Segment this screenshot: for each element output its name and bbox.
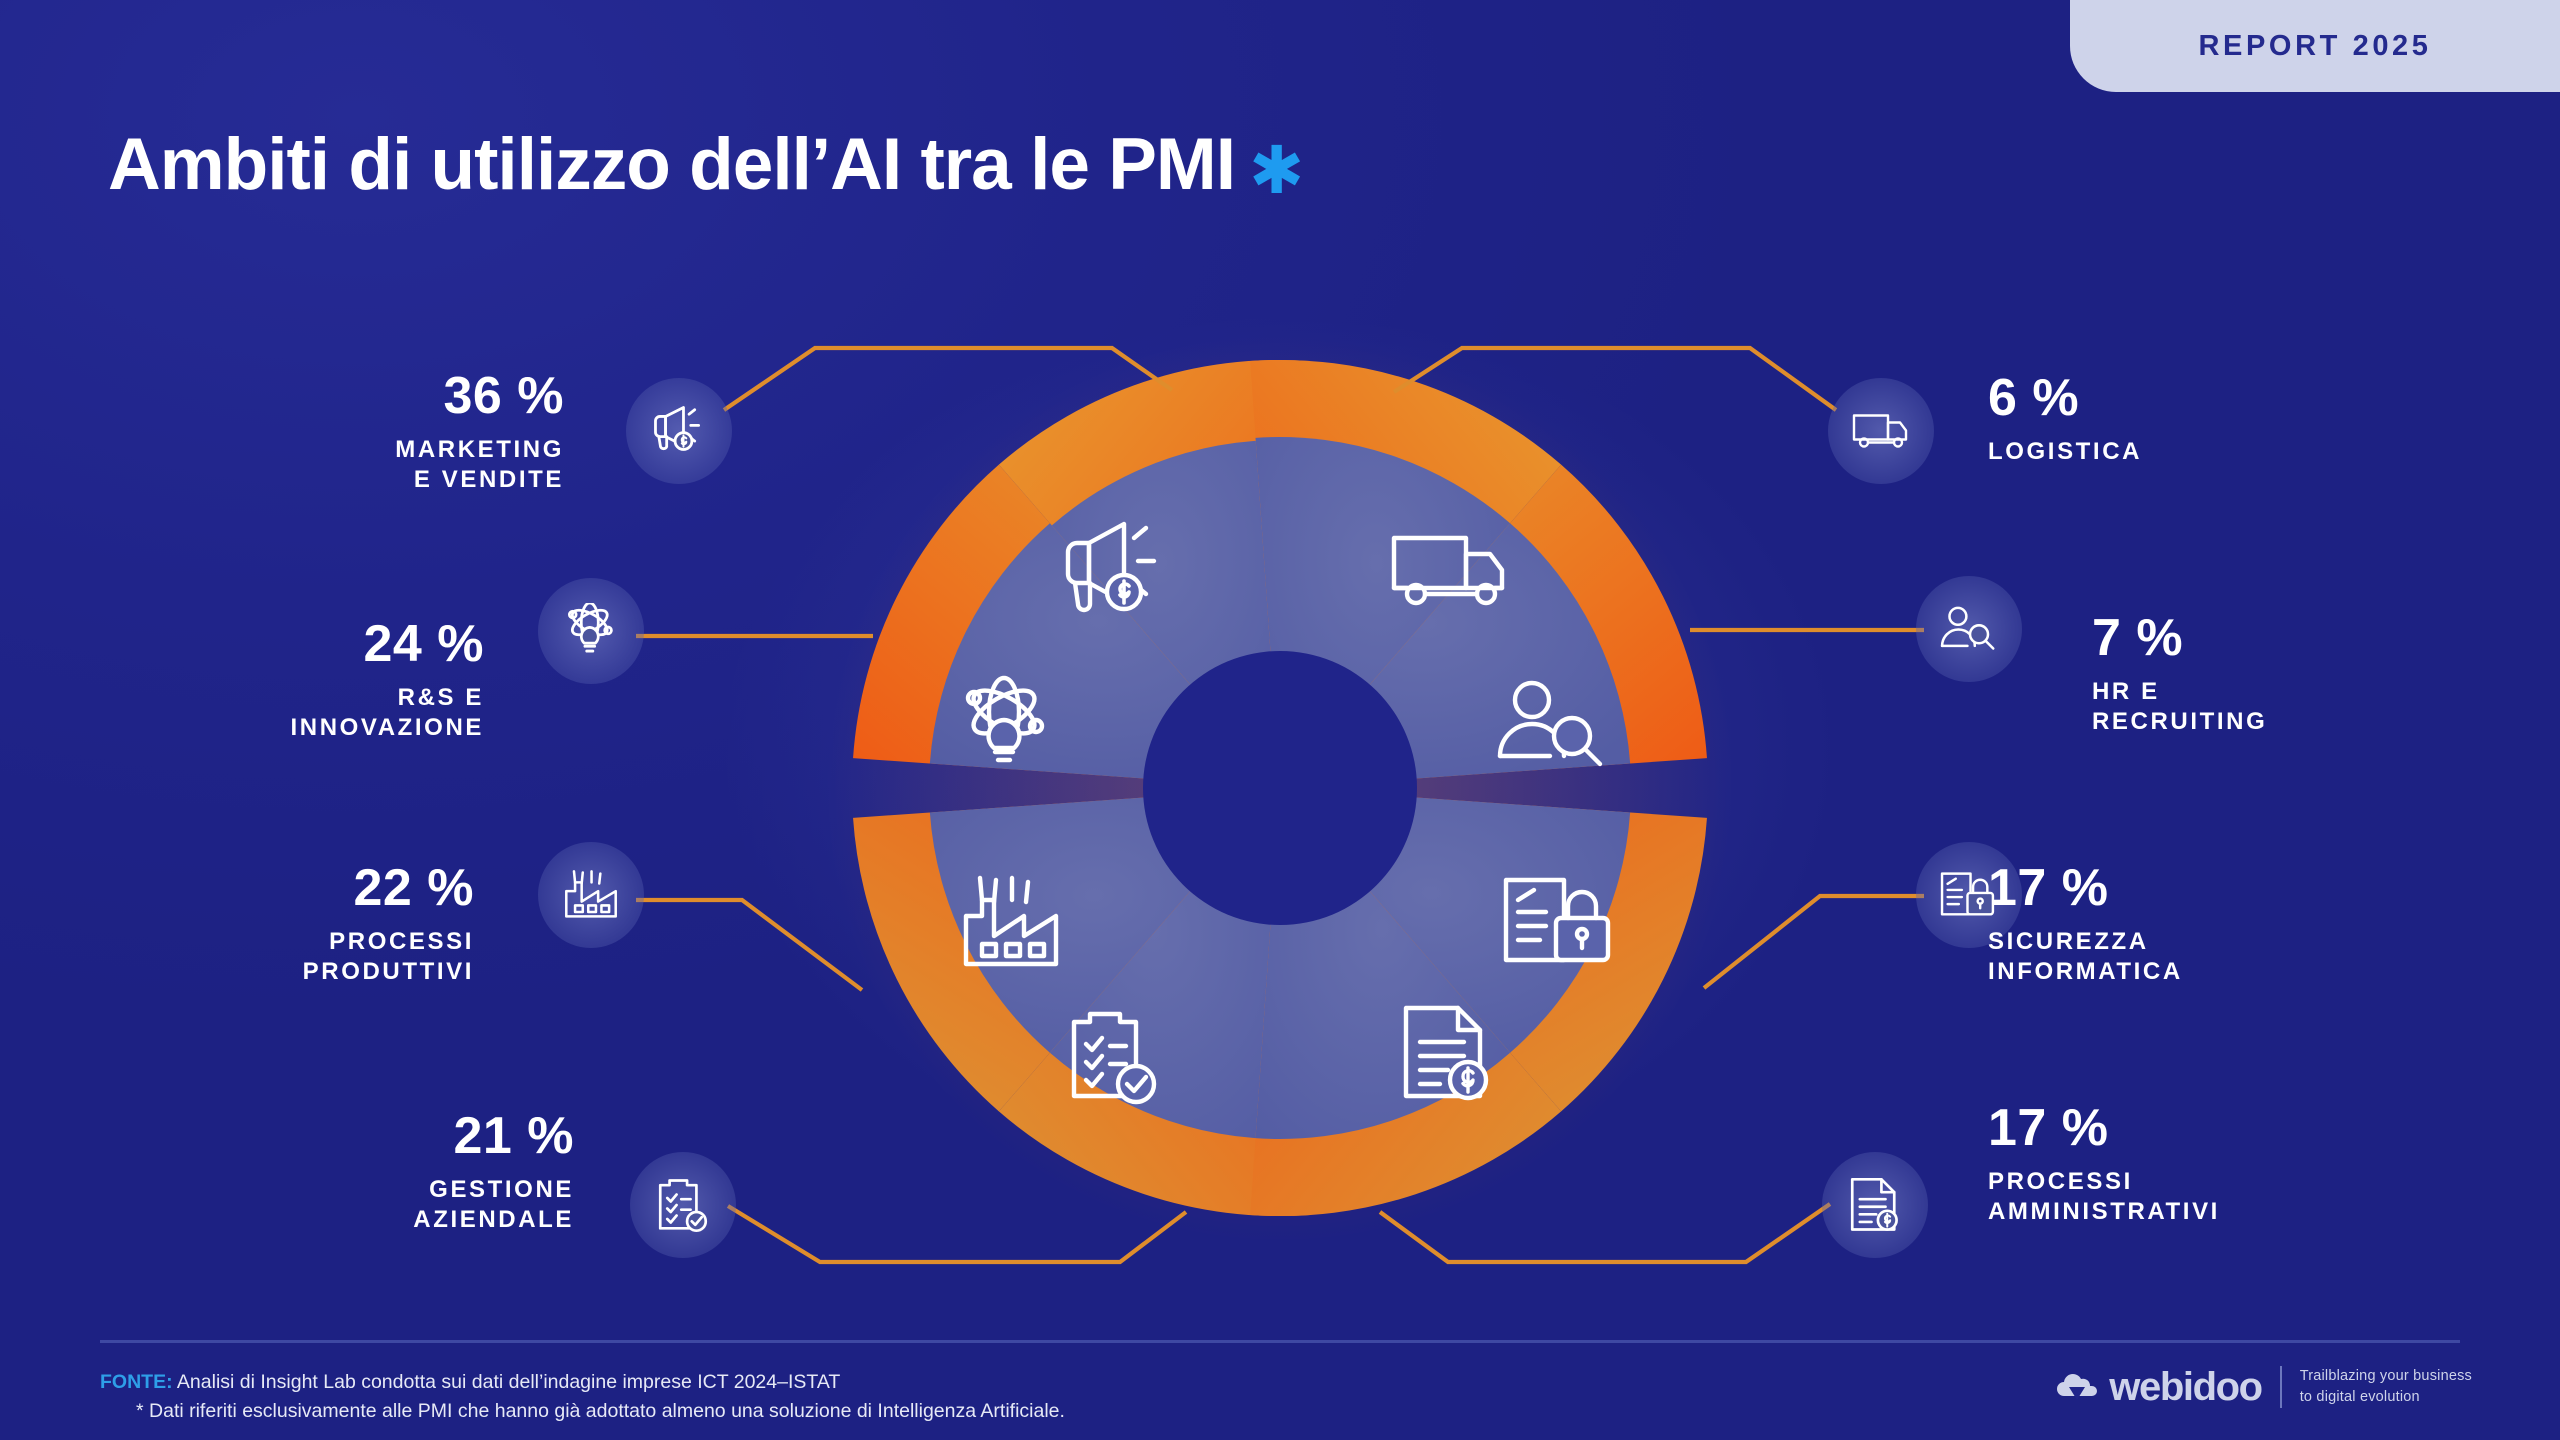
stat-label-line1: HR E: [2092, 678, 2160, 705]
stat-label: SICUREZZA INFORMATICA: [1988, 927, 2448, 987]
stat-label-line1: PROCESSI: [329, 928, 474, 955]
donut-wheel: [810, 318, 1750, 1258]
webidoo-logo: webidoo Trailblazing your business to di…: [2054, 1366, 2472, 1408]
logo-text: webidoo: [2109, 1367, 2261, 1407]
stat-label: HR E RECRUITING: [2092, 677, 2512, 737]
stat-label-line1: SICUREZZA: [1988, 928, 2149, 955]
logo-tagline: Trailblazing your business to digital ev…: [2300, 1366, 2472, 1407]
user-search-icon: [1940, 603, 1998, 655]
logo-mark: webidoo: [2054, 1367, 2261, 1407]
footer-divider: [100, 1340, 2460, 1343]
stat-label-line2: INFORMATICA: [1988, 958, 2183, 985]
page-title: Ambiti di utilizzo dell’AI tra le PMI✱: [108, 128, 1303, 203]
icon-node-logistica[interactable]: [1828, 378, 1934, 484]
fonte-text: Analisi di Insight Lab condotta sui dati…: [177, 1371, 840, 1393]
stat-label-line2: AZIENDALE: [413, 1206, 574, 1233]
wheel-center-hole: [1143, 651, 1417, 925]
icon-node-gestione[interactable]: [630, 1152, 736, 1258]
factory-icon: [563, 868, 619, 922]
icon-node-rs[interactable]: [538, 578, 644, 684]
stat-label: MARKETING E VENDITE: [214, 435, 564, 495]
logo-divider: [2280, 1366, 2282, 1408]
stat-label: PROCESSI PRODUTTIVI: [124, 927, 474, 987]
stat-value: 36 %: [214, 370, 564, 422]
stat-value: 24 %: [134, 618, 484, 670]
asterisk-icon: ✱: [1249, 133, 1303, 207]
clipboard-check-icon: [656, 1177, 710, 1233]
truck-icon: [1852, 407, 1910, 455]
stat-label: LOGISTICA: [1988, 437, 2408, 467]
megaphone-dollar-icon: [651, 403, 707, 459]
page-title-text: Ambiti di utilizzo dell’AI tra le PMI: [108, 124, 1235, 205]
source-note: FONTE: Analisi di Insight Lab condotta s…: [100, 1368, 1065, 1427]
disclaimer-text: Dati riferiti esclusivamente alle PMI ch…: [149, 1400, 1065, 1422]
stat-label-line2: RECRUITING: [2092, 708, 2267, 735]
atom-bulb-icon: [563, 603, 619, 659]
stat-value: 6 %: [1988, 372, 2408, 424]
icon-node-hr[interactable]: [1916, 576, 2022, 682]
stat-label-line1: PROCESSI: [1988, 1168, 2133, 1195]
report-badge: REPORT 2025: [2070, 0, 2560, 92]
stat-label-line1: MARKETING: [395, 436, 564, 463]
stat-value: 17 %: [1988, 1102, 2458, 1154]
logo-tagline-line1: Trailblazing your business: [2300, 1368, 2472, 1384]
document-lock-icon: [1940, 870, 1998, 920]
stat-label: PROCESSI AMMINISTRATIVI: [1988, 1167, 2458, 1227]
stat-logistica: 6 % LOGISTICA: [1988, 372, 2408, 467]
stat-label-line2: AMMINISTRATIVI: [1988, 1198, 2220, 1225]
cloud-arrow-icon: [2054, 1370, 2100, 1404]
logo-tagline-line2: to digital evolution: [2300, 1389, 2420, 1405]
stat-label-line1: LOGISTICA: [1988, 438, 2142, 465]
stat-label-line2: E VENDITE: [414, 466, 564, 493]
disclaimer-asterisk: *: [136, 1400, 144, 1422]
stat-hr: 7 % HR E RECRUITING: [2092, 612, 2512, 737]
stat-value: 22 %: [124, 862, 474, 914]
invoice-dollar-icon: [1848, 1177, 1902, 1233]
fonte-label: FONTE:: [100, 1371, 173, 1393]
stat-label: GESTIONE AZIENDALE: [224, 1175, 574, 1235]
stat-label: R&S E INNOVAZIONE: [134, 683, 484, 743]
icon-node-produttivi[interactable]: [538, 842, 644, 948]
stat-label-line2: INNOVAZIONE: [291, 714, 485, 741]
stat-value: 17 %: [1988, 862, 2448, 914]
stat-label-line1: R&S E: [398, 684, 484, 711]
report-badge-label: REPORT 2025: [2198, 30, 2431, 63]
stat-label-line2: PRODUTTIVI: [303, 958, 474, 985]
disclaimer-line: * Dati riferiti esclusivamente alle PMI …: [100, 1397, 1065, 1426]
infographic-canvas: REPORT 2025 Ambiti di utilizzo dell’AI t…: [0, 0, 2560, 1440]
stat-value: 21 %: [224, 1110, 574, 1162]
stat-marketing: 36 % MARKETING E VENDITE: [214, 370, 564, 495]
stat-value: 7 %: [2092, 612, 2512, 664]
stat-rs: 24 % R&S E INNOVAZIONE: [134, 618, 484, 743]
icon-node-amministrativi[interactable]: [1822, 1152, 1928, 1258]
stat-amministrativi: 17 % PROCESSI AMMINISTRATIVI: [1988, 1102, 2458, 1227]
stat-sicurezza: 17 % SICUREZZA INFORMATICA: [1988, 862, 2448, 987]
icon-node-marketing[interactable]: [626, 378, 732, 484]
stat-gestione: 21 % GESTIONE AZIENDALE: [224, 1110, 574, 1235]
stat-produttivi: 22 % PROCESSI PRODUTTIVI: [124, 862, 474, 987]
stat-label-line1: GESTIONE: [429, 1176, 574, 1203]
